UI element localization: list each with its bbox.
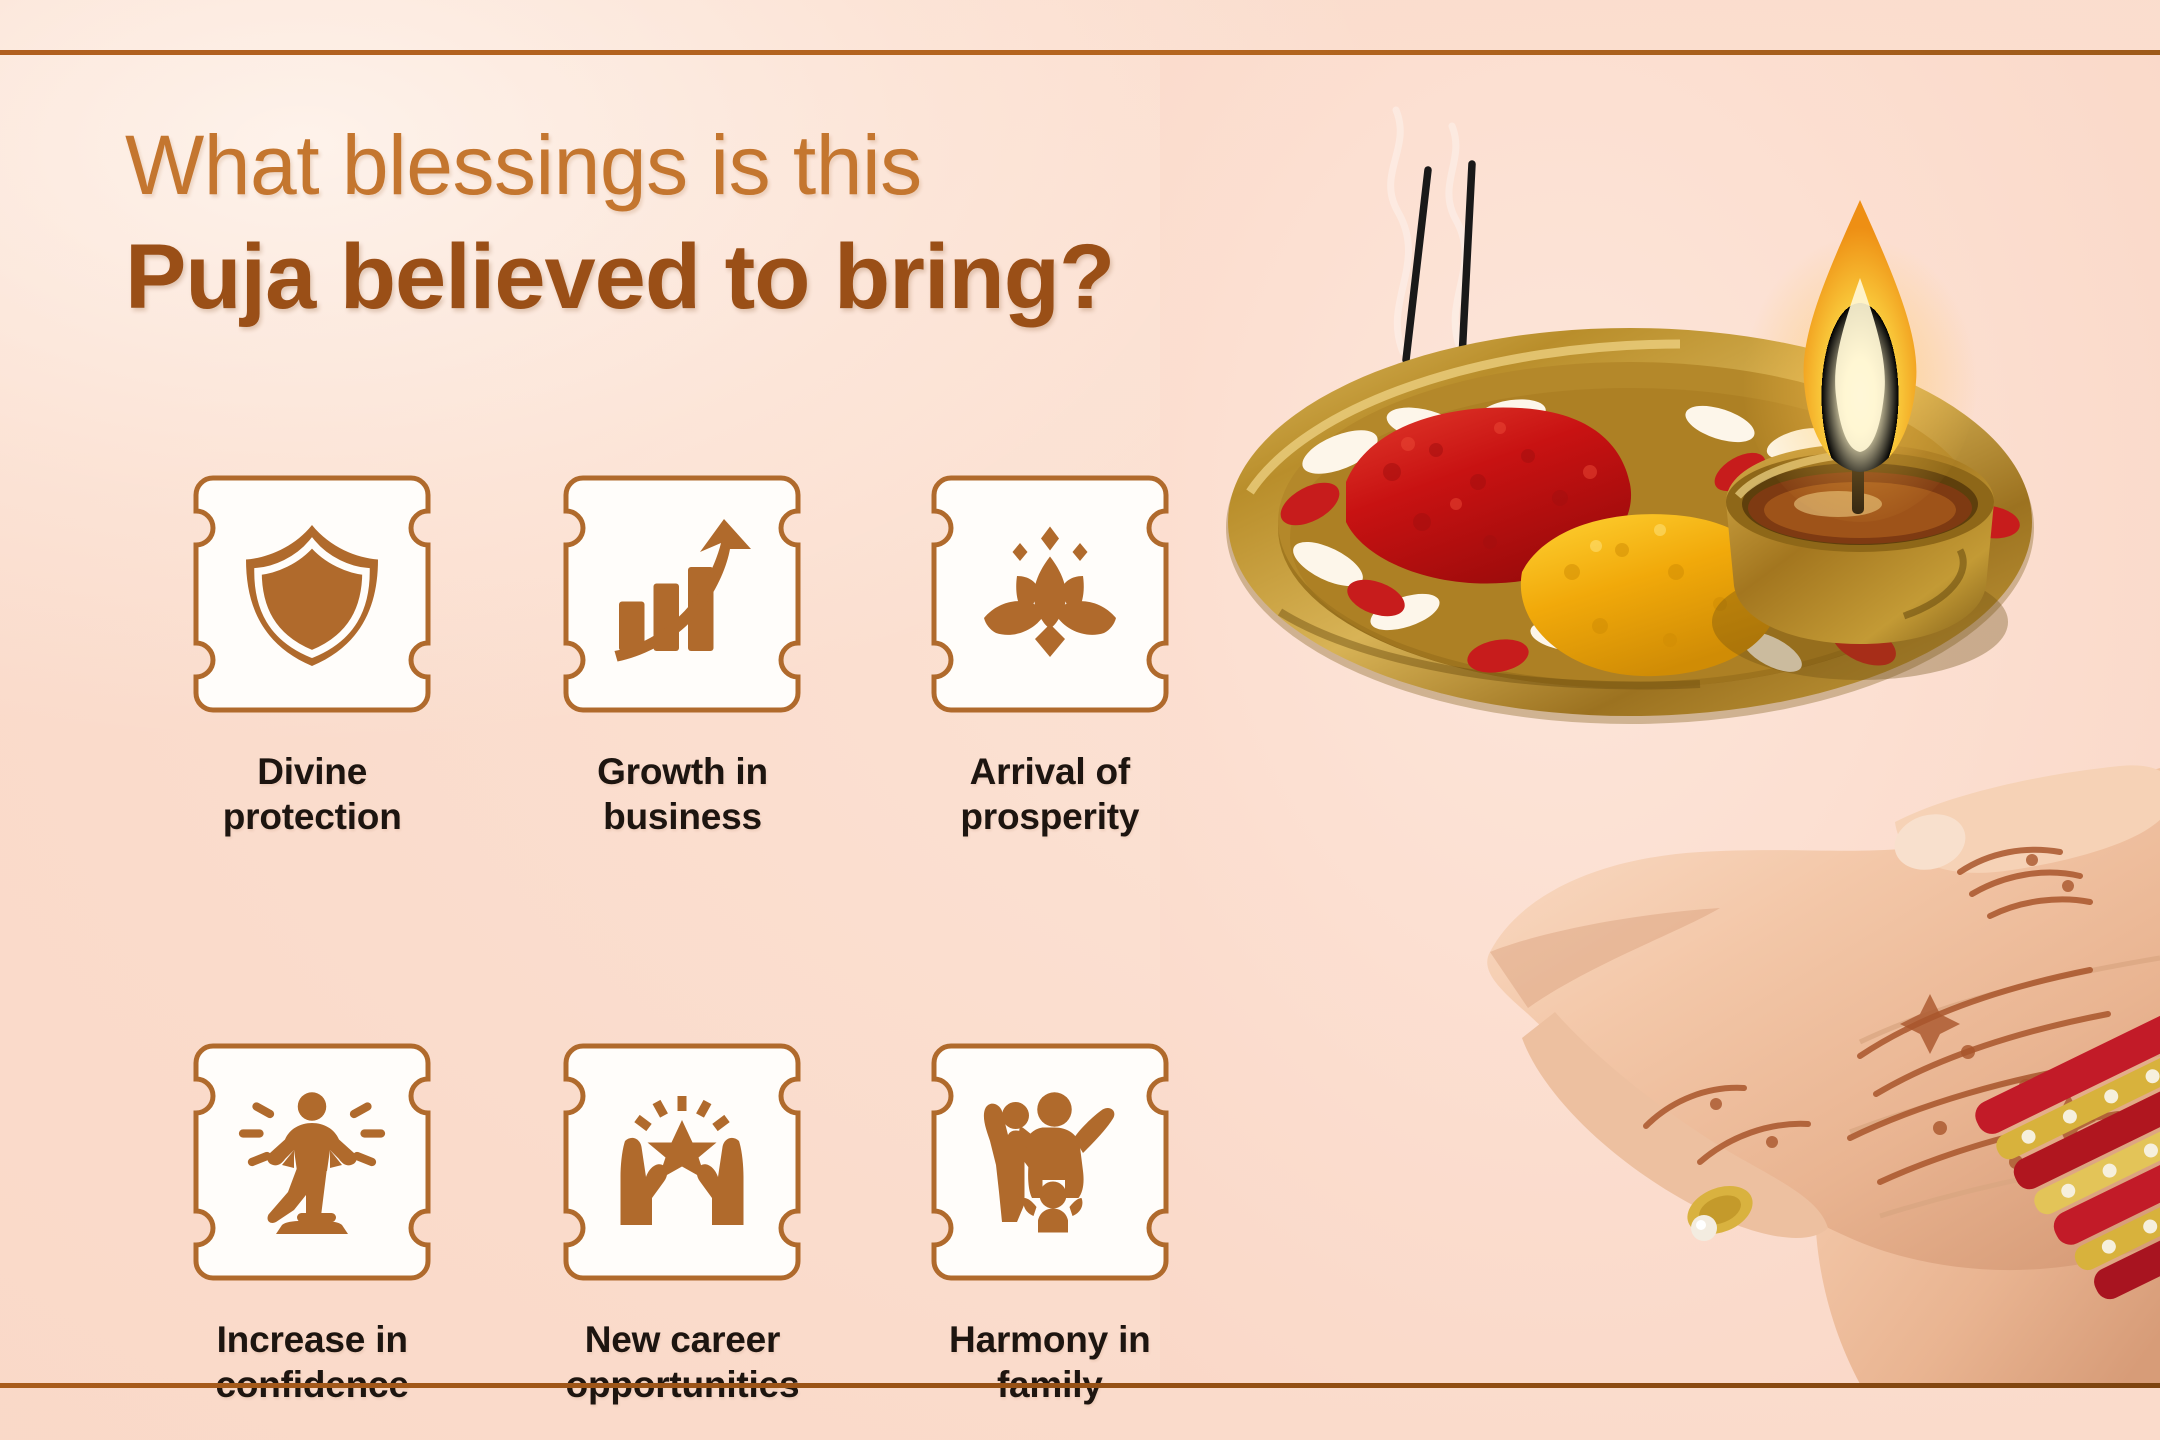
headline-line-2: Puja believed to bring? xyxy=(125,231,1114,323)
top-divider-rule xyxy=(0,50,2160,55)
caption-line-1: New career xyxy=(566,1317,800,1362)
benefits-grid: Divine protection xyxy=(0,465,1240,1408)
poster-canvas: What blessings is this Puja believed to … xyxy=(0,0,2160,1440)
puja-thali-photo xyxy=(1160,52,2160,1384)
caption-line-1: Growth in xyxy=(597,749,768,794)
bottom-divider-rule xyxy=(0,1383,2160,1388)
benefit-caption: Harmony in family xyxy=(949,1317,1151,1407)
headline: What blessings is this Puja believed to … xyxy=(125,123,1114,323)
caption-line-1: Arrival of xyxy=(960,749,1139,794)
icon-card xyxy=(553,465,811,723)
confident-person-icon xyxy=(237,1087,387,1237)
icon-card xyxy=(183,465,441,723)
icon-card xyxy=(553,1033,811,1291)
benefit-item-new-career-opportunities[interactable]: New career opportunities xyxy=(492,1033,872,1407)
icon-card xyxy=(183,1033,441,1291)
benefit-item-divine-protection[interactable]: Divine protection xyxy=(122,465,502,839)
icon-card xyxy=(921,1033,1179,1291)
caption-line-2: protection xyxy=(223,794,402,839)
benefit-caption: Growth in business xyxy=(597,749,768,839)
icon-card xyxy=(921,465,1179,723)
lotus-icon xyxy=(975,519,1125,669)
benefit-caption: Arrival of prosperity xyxy=(960,749,1139,839)
caption-line-2: prosperity xyxy=(960,794,1139,839)
benefit-item-arrival-of-prosperity[interactable]: Arrival of prosperity xyxy=(860,465,1240,839)
benefits-row-2: Increase in confidence xyxy=(0,1033,1240,1407)
benefit-item-harmony-in-family[interactable]: Harmony in family xyxy=(860,1033,1240,1407)
benefit-item-growth-in-business[interactable]: Growth in business xyxy=(492,465,872,839)
benefit-caption: Increase in confidence xyxy=(216,1317,409,1407)
shield-icon xyxy=(237,519,387,669)
headline-line-1: What blessings is this xyxy=(125,123,1114,207)
benefit-caption: Divine protection xyxy=(223,749,402,839)
benefit-caption: New career opportunities xyxy=(566,1317,800,1407)
growth-chart-icon xyxy=(607,519,757,669)
caption-line-1: Increase in xyxy=(216,1317,409,1362)
benefits-row-1: Divine protection xyxy=(0,465,1240,839)
hands-star-icon xyxy=(607,1087,757,1237)
caption-line-1: Divine xyxy=(223,749,402,794)
caption-line-2: business xyxy=(597,794,768,839)
caption-line-1: Harmony in xyxy=(949,1317,1151,1362)
benefit-item-increase-in-confidence[interactable]: Increase in confidence xyxy=(122,1033,502,1407)
family-icon xyxy=(975,1087,1125,1237)
